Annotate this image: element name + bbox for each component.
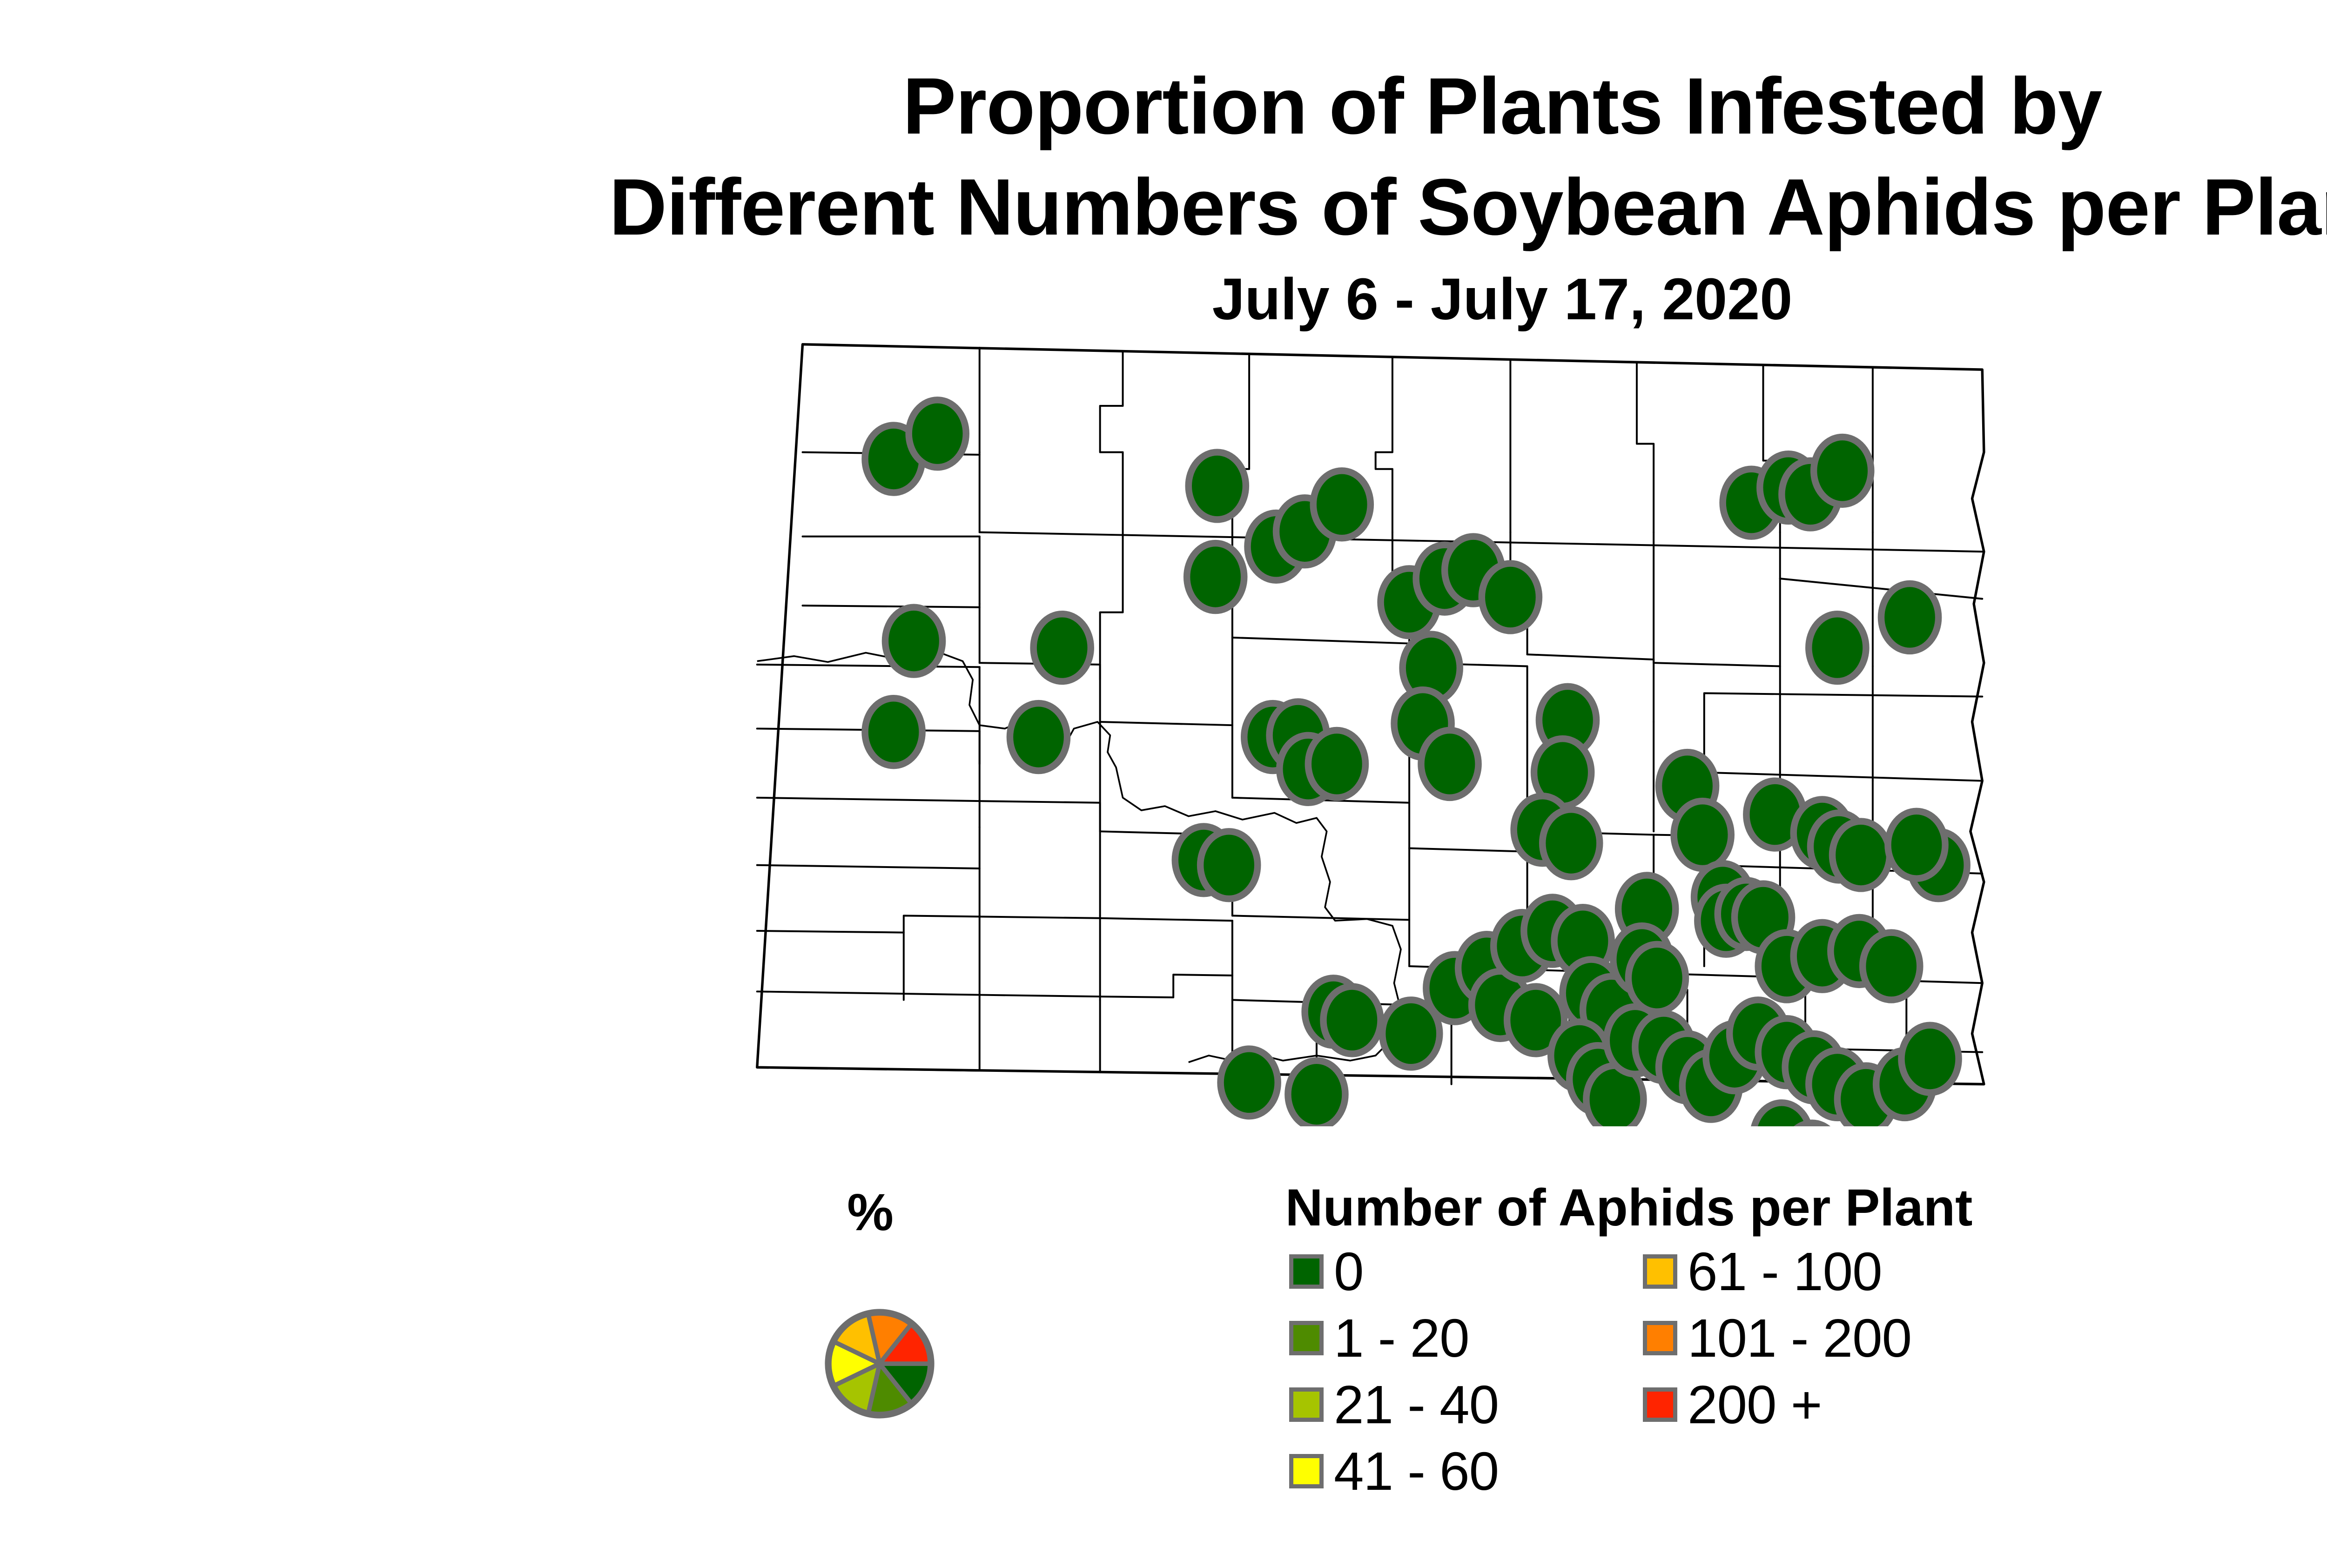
north-dakota-map (726, 326, 2076, 1126)
legend-item[interactable]: 41 - 60 (1289, 1438, 1499, 1504)
site-marker-pie (1832, 821, 1890, 889)
legend-item-label: 41 - 60 (1334, 1444, 1499, 1498)
page-title: Proportion of Plants Infested by Differe… (0, 56, 2327, 257)
site-marker-pie (1288, 1061, 1345, 1126)
site-marker-pie (1888, 811, 1945, 879)
legend-item[interactable]: 101 - 200 (1643, 1305, 1911, 1371)
poster-canvas: Proportion of Plants Infested by Differe… (0, 0, 2327, 1568)
legend-item-label: 1 - 20 (1334, 1311, 1469, 1365)
legend-color-swatch (1643, 1321, 1677, 1355)
legend-item[interactable]: 1 - 20 (1289, 1305, 1499, 1371)
percent-key-pie-icon (824, 1308, 935, 1420)
site-marker-pie (1482, 564, 1539, 631)
site-marker-pie (1200, 831, 1258, 899)
legend-color-swatch (1289, 1387, 1324, 1422)
date-range-subtitle: July 6 - July 17, 2020 (0, 265, 2327, 333)
site-marker-pie (1881, 584, 1938, 651)
site-marker-pie (865, 698, 922, 766)
legend-color-swatch (1643, 1254, 1677, 1289)
site-marker-pie (1323, 986, 1380, 1054)
legend: Number of Aphids per Plant 01 - 2021 - 4… (1285, 1178, 2011, 1503)
legend-item-label: 200 + (1688, 1378, 1822, 1432)
legend-item-label: 0 (1334, 1245, 1364, 1299)
site-marker-pie (1221, 1049, 1278, 1116)
title-line-1: Proportion of Plants Infested by (0, 56, 2327, 157)
legend-column-left: 01 - 2021 - 4041 - 60 (1289, 1238, 1499, 1504)
site-marker-pie (1809, 614, 1866, 681)
site-marker-pie (1034, 614, 1091, 681)
site-marker-pie (1674, 801, 1731, 868)
legend-color-swatch (1289, 1454, 1324, 1488)
site-marker-pie (1814, 437, 1871, 505)
site-marker-pie (1863, 933, 1920, 1000)
site-marker-pie (1901, 1025, 1958, 1093)
site-marker-pie (1313, 471, 1371, 538)
site-marker-pie (1187, 543, 1244, 611)
site-marker-pie (1010, 703, 1067, 771)
site-marker-pie (1308, 730, 1365, 798)
legend-item[interactable]: 0 (1289, 1238, 1499, 1305)
legend-color-swatch (1289, 1321, 1324, 1355)
legend-color-swatch (1643, 1387, 1677, 1422)
legend-item-label: 61 - 100 (1688, 1245, 1882, 1299)
percent-key-label: % (773, 1182, 968, 1242)
site-markers-layer (865, 400, 1992, 1126)
legend-item[interactable]: 61 - 100 (1643, 1238, 1911, 1305)
site-marker-pie (1542, 809, 1600, 877)
site-marker-pie (1628, 944, 1686, 1012)
legend-title: Number of Aphids per Plant (1266, 1178, 1992, 1238)
site-marker-pie (1189, 452, 1246, 520)
legend-item-label: 21 - 40 (1334, 1378, 1499, 1432)
site-marker-pie (885, 607, 942, 675)
legend-item[interactable]: 200 + (1643, 1371, 1911, 1438)
title-line-2: Different Numbers of Soybean Aphids per … (0, 157, 2327, 258)
site-marker-pie (1421, 730, 1478, 798)
legend-item-label: 101 - 200 (1688, 1311, 1911, 1365)
legend-column-right: 61 - 100101 - 200200 + (1643, 1238, 1911, 1438)
legend-color-swatch (1289, 1254, 1324, 1289)
map-svg (726, 326, 2076, 1126)
site-marker-pie (909, 400, 966, 467)
legend-item[interactable]: 21 - 40 (1289, 1371, 1499, 1438)
percent-key: % (773, 1182, 968, 1443)
